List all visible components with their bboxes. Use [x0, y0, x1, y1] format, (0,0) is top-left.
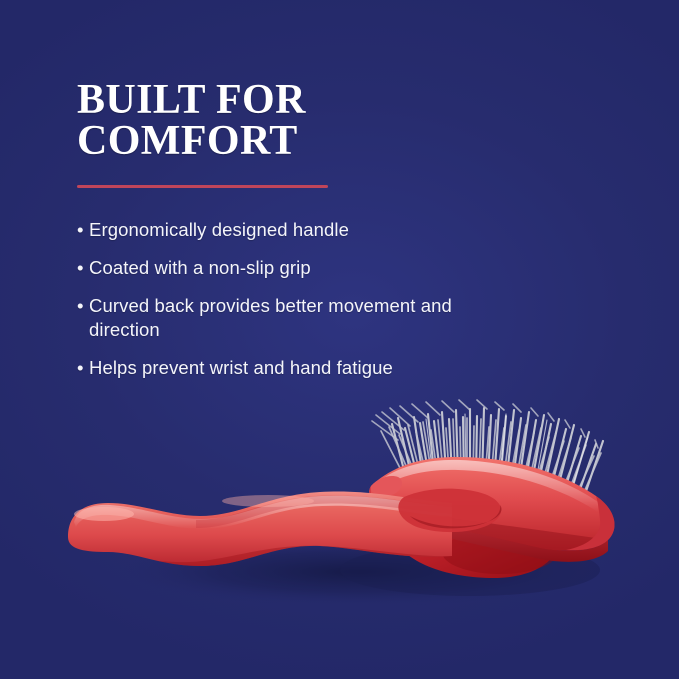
brush-handle-underside — [68, 546, 452, 572]
brush-bristles — [372, 400, 603, 515]
list-item: • Ergonomically designed handle — [77, 218, 507, 243]
bullet-marker-icon: • — [77, 256, 84, 281]
brush-head-pad-edge — [369, 486, 608, 562]
brush-handle-gloss — [74, 496, 452, 529]
brush-handle — [68, 491, 452, 566]
brush-head-pad-shade — [380, 508, 610, 560]
brush-handle-tip-highlight — [74, 507, 134, 521]
title-divider — [77, 185, 328, 188]
feature-list: • Ergonomically designed handle • Coated… — [77, 218, 507, 380]
brush-pad-right-tip — [566, 496, 614, 550]
bullet-marker-icon: • — [77, 356, 84, 381]
list-item-label: Ergonomically designed handle — [89, 219, 349, 240]
headline-line-1: BUILT FOR — [77, 77, 306, 123]
brush-handle-wave-highlight — [222, 495, 314, 507]
brush-head-pad-gloss — [375, 460, 598, 512]
list-item-label: Curved back provides better movement and… — [89, 295, 452, 341]
page-title: BUILT FOR COMFORT — [77, 80, 507, 162]
brush-pad-left-tip — [371, 476, 402, 496]
brush-head-pad — [369, 457, 614, 551]
product-shadow — [115, 538, 605, 606]
list-item-label: Coated with a non-slip grip — [89, 257, 311, 278]
product-shadow-core — [340, 544, 600, 596]
brush-head-body — [392, 469, 560, 578]
brush-head-body-shade — [442, 530, 558, 574]
list-item: • Helps prevent wrist and hand fatigue — [77, 356, 507, 381]
headline-line-2: COMFORT — [77, 121, 507, 162]
brush-neck-shade — [410, 505, 502, 528]
list-item: • Coated with a non-slip grip — [77, 256, 507, 281]
bullet-marker-icon: • — [77, 218, 84, 243]
copy-block: BUILT FOR COMFORT • Ergonomically design… — [77, 80, 507, 393]
list-item-label: Helps prevent wrist and hand fatigue — [89, 357, 393, 378]
bullet-marker-icon: • — [77, 294, 84, 319]
infographic-canvas: BUILT FOR COMFORT • Ergonomically design… — [0, 0, 679, 679]
list-item: • Curved back provides better movement a… — [77, 294, 507, 343]
brush-handle-midshade — [196, 495, 452, 528]
brush-neck — [398, 489, 501, 533]
